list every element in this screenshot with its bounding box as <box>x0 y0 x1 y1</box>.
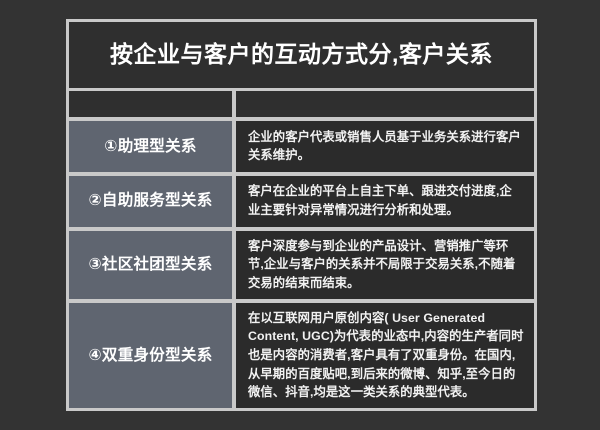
slide-title-box: 按企业与客户的互动方式分,客户关系 <box>69 22 534 88</box>
table-frame: 按企业与客户的互动方式分,客户关系 ①助理型关系 企业的客户代表或销售人员基于业… <box>66 19 537 411</box>
row-term-label: ②自助服务型关系 <box>88 191 212 210</box>
row-description-cell: 客户深度参与到企业的产品设计、营销推广等环节,企业与客户的关系并不局限于交易关系… <box>236 231 534 299</box>
row-term-label: ③社区社团型关系 <box>88 255 212 274</box>
row-description-cell: 客户在企业的平台上自主下单、跟进交付进度,企业主要针对异常情况进行分析和处理。 <box>236 176 534 227</box>
table-row: ①助理型关系 企业的客户代表或销售人员基于业务关系进行客户关系维护。 <box>69 121 534 172</box>
slide-canvas: 按企业与客户的互动方式分,客户关系 ①助理型关系 企业的客户代表或销售人员基于业… <box>0 0 600 430</box>
relationship-table: ①助理型关系 企业的客户代表或销售人员基于业务关系进行客户关系维护。 ②自助服务… <box>69 91 534 408</box>
page-title: 按企业与客户的互动方式分,客户关系 <box>110 41 493 69</box>
row-description-cell: 企业的客户代表或销售人员基于业务关系进行客户关系维护。 <box>236 121 534 172</box>
row-term-cell: ①助理型关系 <box>69 121 232 172</box>
header-cell-term <box>69 91 232 117</box>
row-term-label: ④双重身份型关系 <box>88 346 212 365</box>
table-row: ③社区社团型关系 客户深度参与到企业的产品设计、营销推广等环节,企业与客户的关系… <box>69 231 534 299</box>
table-row: ②自助服务型关系 客户在企业的平台上自主下单、跟进交付进度,企业主要针对异常情况… <box>69 176 534 227</box>
row-term-cell: ④双重身份型关系 <box>69 303 232 408</box>
table-header-row <box>69 91 534 117</box>
row-description-text: 企业的客户代表或销售人员基于业务关系进行客户关系维护。 <box>248 128 524 165</box>
row-description-cell: 在以互联网用户原创内容( User Generated Content, UGC… <box>236 303 534 408</box>
row-description-text: 在以互联网用户原创内容( User Generated Content, UGC… <box>248 309 524 402</box>
row-description-text: 客户深度参与到企业的产品设计、营销推广等环节,企业与客户的关系并不局限于交易关系… <box>248 237 524 293</box>
table-row: ④双重身份型关系 在以互联网用户原创内容( User Generated Con… <box>69 303 534 408</box>
row-term-cell: ②自助服务型关系 <box>69 176 232 227</box>
header-cell-description <box>236 91 534 117</box>
row-description-text: 客户在企业的平台上自主下单、跟进交付进度,企业主要针对异常情况进行分析和处理。 <box>248 182 524 219</box>
row-term-label: ①助理型关系 <box>104 137 196 156</box>
row-term-cell: ③社区社团型关系 <box>69 231 232 299</box>
